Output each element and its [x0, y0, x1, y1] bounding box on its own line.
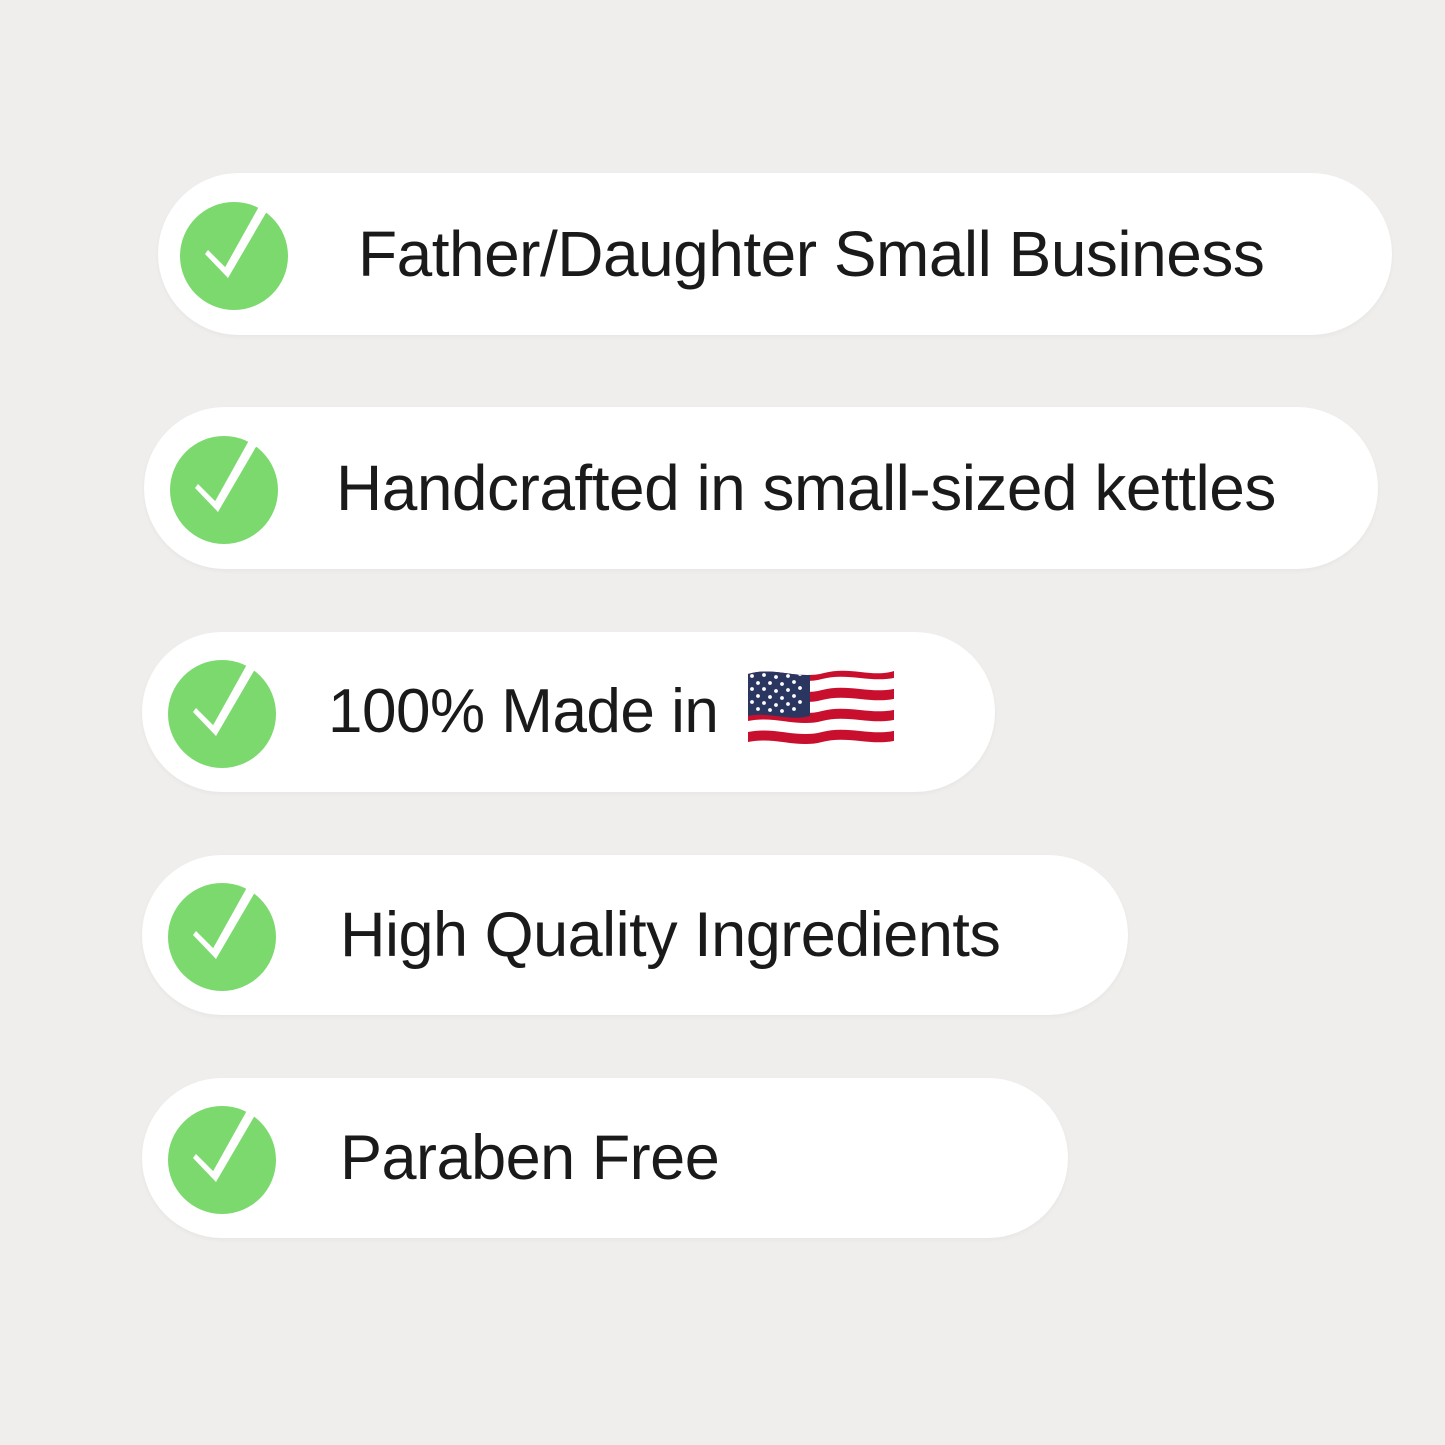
green-check-circle-icon: [166, 879, 278, 991]
feature-row: 100% Made in: [142, 632, 995, 792]
feature-label: 100% Made in: [328, 681, 718, 743]
feature-row: Father/Daughter Small Business: [158, 173, 1392, 335]
green-check-circle-icon: [166, 1102, 278, 1214]
green-check-circle-icon: [168, 432, 280, 544]
feature-row: Paraben Free: [142, 1078, 1068, 1238]
green-check-circle-icon: [178, 198, 290, 310]
us-flag-emoji: [744, 664, 898, 764]
feature-list-graphic: Father/Daughter Small Business Handcraft…: [0, 0, 1445, 1445]
green-check-circle-icon: [166, 656, 278, 768]
feature-label: High Quality Ingredients: [340, 904, 1000, 967]
feature-label: Handcrafted in small-sized kettles: [336, 456, 1276, 520]
feature-label: Father/Daughter Small Business: [358, 222, 1264, 286]
feature-row: Handcrafted in small-sized kettles: [144, 407, 1378, 569]
feature-row: High Quality Ingredients: [142, 855, 1128, 1015]
feature-label: Paraben Free: [340, 1127, 719, 1190]
